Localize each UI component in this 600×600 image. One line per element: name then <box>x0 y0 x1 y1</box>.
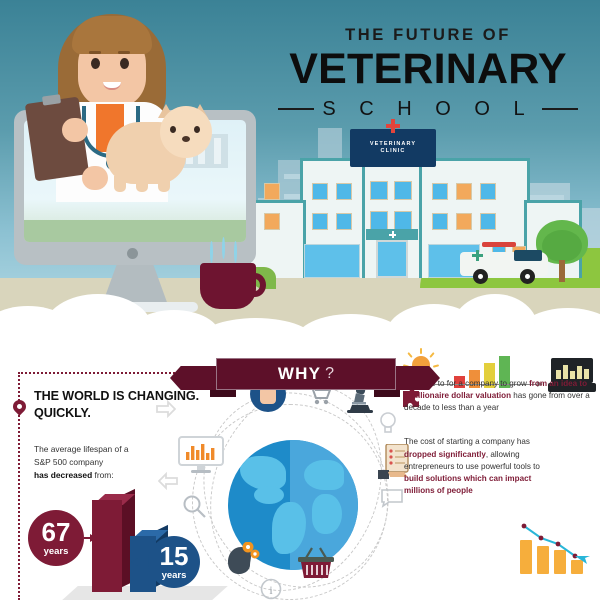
pomeranian-dog <box>106 106 212 192</box>
stat-bubble-67: 67 years <box>28 510 84 566</box>
title-subtitle: S C H O O L <box>322 98 533 121</box>
body-tail: from: <box>92 470 113 480</box>
declining-cost-chart <box>518 518 592 574</box>
stat-number: 67 <box>42 519 71 545</box>
medical-cross-icon <box>472 250 483 261</box>
title-eyebrow: THE FUTURE OF <box>278 26 578 45</box>
speech-bubble-icon <box>380 488 404 508</box>
bar-67-years <box>92 500 122 592</box>
title-rule-left <box>278 108 314 110</box>
block2-bold2: build solutions which can impact million… <box>404 474 531 495</box>
stat-unit: years <box>162 571 187 581</box>
arrow-left-icon <box>158 472 178 490</box>
clinic-door <box>376 240 408 278</box>
medical-cross-icon <box>386 119 400 133</box>
info-icon: i <box>260 578 282 600</box>
content-section: WHY ? THE WORLD IS CHANGING. QUICKLY. Th… <box>0 340 600 600</box>
right-column: The time to for a company to grow from a… <box>404 378 592 497</box>
page-title: VETERINARY <box>278 47 578 93</box>
stat-unit: years <box>44 547 69 557</box>
brain-gears-icon <box>224 542 260 576</box>
body-bold: has decreased <box>34 470 92 480</box>
text-block-2: The cost of starting a company has dropp… <box>404 436 556 497</box>
lightbulb-icon <box>378 410 398 436</box>
shopping-basket-icon <box>296 546 336 580</box>
monitor-chart-icon <box>178 436 224 476</box>
arrow-to-67 <box>84 537 96 539</box>
magnifier-icon <box>182 494 208 520</box>
why-label: WHY <box>278 364 321 384</box>
global-network-globe: i <box>188 378 400 600</box>
medical-cross-icon <box>389 231 396 238</box>
body-line2: S&P 500 company <box>34 457 103 467</box>
hero-section: VETERINARY CLINIC <box>0 0 600 340</box>
panel-body: The average lifespan of a S&P 500 compan… <box>34 443 162 482</box>
arrow-right-icon <box>156 400 176 418</box>
clinic-sign: VETERINARY CLINIC <box>350 129 436 167</box>
block2-bold1: dropped significantly <box>404 450 486 459</box>
hero-title: THE FUTURE OF VETERINARY S C H O O L <box>278 26 578 121</box>
title-rule-right <box>542 108 578 110</box>
why-banner: WHY ? <box>170 358 440 394</box>
body-line1: The average lifespan of a <box>34 444 129 454</box>
ambulance-van <box>460 246 548 282</box>
clinic-sign-line2: CLINIC <box>381 148 406 155</box>
block2-pre: The cost of starting a company has <box>404 437 530 446</box>
stat-number: 15 <box>160 543 189 569</box>
infographic-page: VETERINARY CLINIC <box>0 0 600 600</box>
question-mark: ? <box>325 365 334 383</box>
svg-text:i: i <box>269 583 273 597</box>
trend-arrow-icon <box>518 518 592 574</box>
arrow-to-15 <box>132 561 146 563</box>
pin-marker-icon <box>10 397 28 415</box>
clinic-sign-line1: VETERINARY <box>370 141 416 148</box>
